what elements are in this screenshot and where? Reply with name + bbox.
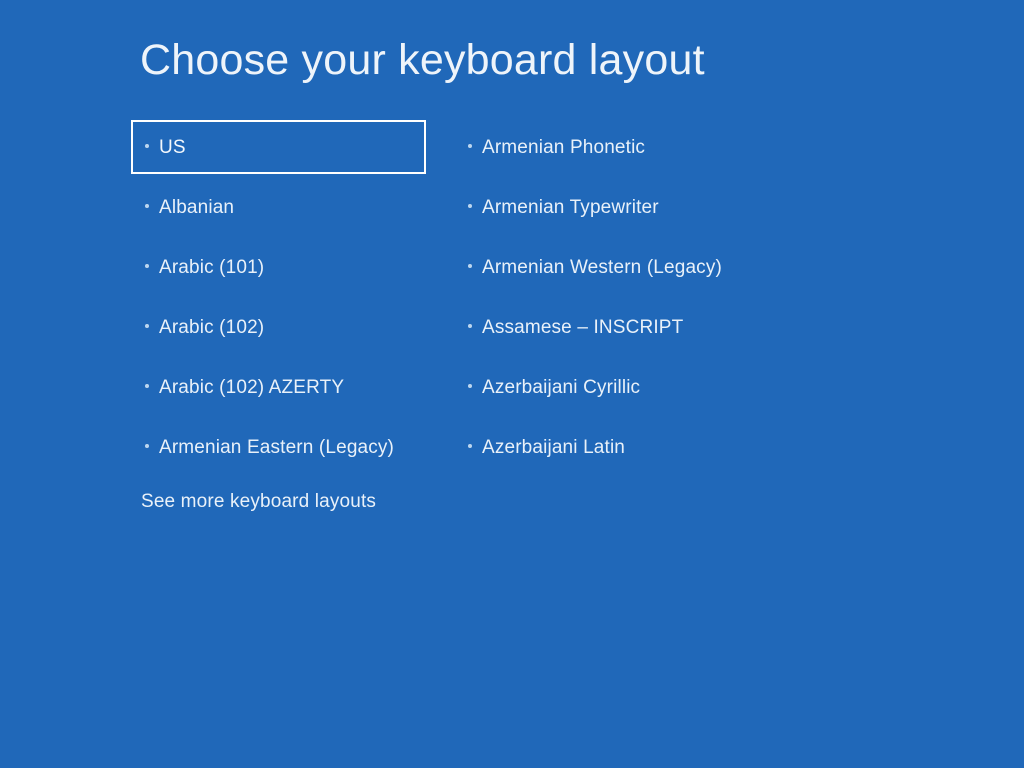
keyboard-layout-option-armenian-western-legacy[interactable]: Armenian Western (Legacy) xyxy=(462,240,842,294)
keyboard-layout-option-armenian-typewriter[interactable]: Armenian Typewriter xyxy=(462,180,842,234)
bullet-icon xyxy=(468,144,472,148)
keyboard-layout-option-assamese-inscript[interactable]: Assamese – INSCRIPT xyxy=(462,300,842,354)
keyboard-layout-option-us[interactable]: US xyxy=(131,120,426,174)
keyboard-layout-screen: Choose your keyboard layout US Albanian … xyxy=(0,0,1024,768)
bullet-icon xyxy=(468,204,472,208)
keyboard-layout-option-armenian-eastern-legacy[interactable]: Armenian Eastern (Legacy) xyxy=(131,420,451,474)
bullet-icon xyxy=(145,384,149,388)
bullet-icon xyxy=(145,444,149,448)
keyboard-layout-label: Arabic (102) xyxy=(159,318,264,337)
keyboard-layout-label: Azerbaijani Latin xyxy=(482,438,625,457)
keyboard-layout-label: Arabic (102) AZERTY xyxy=(159,378,344,397)
see-more-keyboard-layouts-link[interactable]: See more keyboard layouts xyxy=(141,492,376,511)
bullet-icon xyxy=(468,384,472,388)
bullet-icon xyxy=(468,324,472,328)
keyboard-layout-label: Armenian Western (Legacy) xyxy=(482,258,722,277)
keyboard-layout-label: US xyxy=(159,138,186,157)
keyboard-layout-option-arabic-102[interactable]: Arabic (102) xyxy=(131,300,451,354)
page-title: Choose your keyboard layout xyxy=(140,36,705,85)
keyboard-layout-label: Armenian Typewriter xyxy=(482,198,659,217)
bullet-icon xyxy=(468,444,472,448)
keyboard-layout-list-left: US Albanian Arabic (101) Arabic (102) Ar… xyxy=(131,120,451,480)
keyboard-layout-label: Armenian Eastern (Legacy) xyxy=(159,438,394,457)
keyboard-layout-option-azerbaijani-cyrillic[interactable]: Azerbaijani Cyrillic xyxy=(462,360,842,414)
bullet-icon xyxy=(145,324,149,328)
keyboard-layout-option-armenian-phonetic[interactable]: Armenian Phonetic xyxy=(462,120,842,174)
keyboard-layout-option-arabic-101[interactable]: Arabic (101) xyxy=(131,240,451,294)
keyboard-layout-option-azerbaijani-latin[interactable]: Azerbaijani Latin xyxy=(462,420,842,474)
keyboard-layout-label: Armenian Phonetic xyxy=(482,138,645,157)
keyboard-layout-label: Azerbaijani Cyrillic xyxy=(482,378,640,397)
keyboard-layout-label: Arabic (101) xyxy=(159,258,264,277)
keyboard-layout-option-albanian[interactable]: Albanian xyxy=(131,180,451,234)
keyboard-layout-label: Albanian xyxy=(159,198,234,217)
keyboard-layout-list-right: Armenian Phonetic Armenian Typewriter Ar… xyxy=(462,120,842,480)
bullet-icon xyxy=(145,144,149,148)
bullet-icon xyxy=(145,264,149,268)
keyboard-layout-label: Assamese – INSCRIPT xyxy=(482,318,683,337)
bullet-icon xyxy=(468,264,472,268)
keyboard-layout-option-arabic-102-azerty[interactable]: Arabic (102) AZERTY xyxy=(131,360,451,414)
bullet-icon xyxy=(145,204,149,208)
